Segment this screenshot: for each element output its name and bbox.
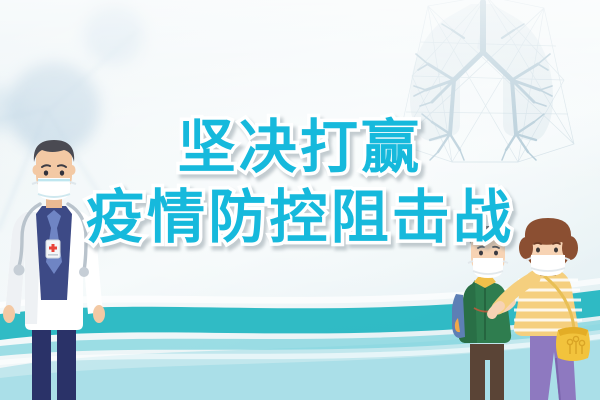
mother-hand — [492, 306, 500, 314]
headline-line-2: 疫情防控阻击战 — [0, 188, 600, 246]
boy-figure — [452, 226, 512, 400]
face-mask-icon — [531, 255, 565, 276]
doctor-hand — [3, 305, 15, 323]
mother-eye — [554, 248, 558, 253]
stethoscope-chestpiece — [14, 265, 25, 276]
boy-eye — [479, 251, 483, 256]
poster-canvas: 坚决打赢 疫情防控阻击战 — [0, 0, 600, 400]
doctor-hand — [93, 305, 105, 323]
poster-headline: 坚决打赢 疫情防控阻击战 — [0, 118, 600, 246]
boy-pants — [470, 344, 504, 400]
boy-eye — [494, 251, 498, 256]
headline-line-1: 坚决打赢 — [0, 118, 600, 176]
mother-eye — [536, 248, 540, 253]
face-mask-icon — [473, 258, 503, 278]
